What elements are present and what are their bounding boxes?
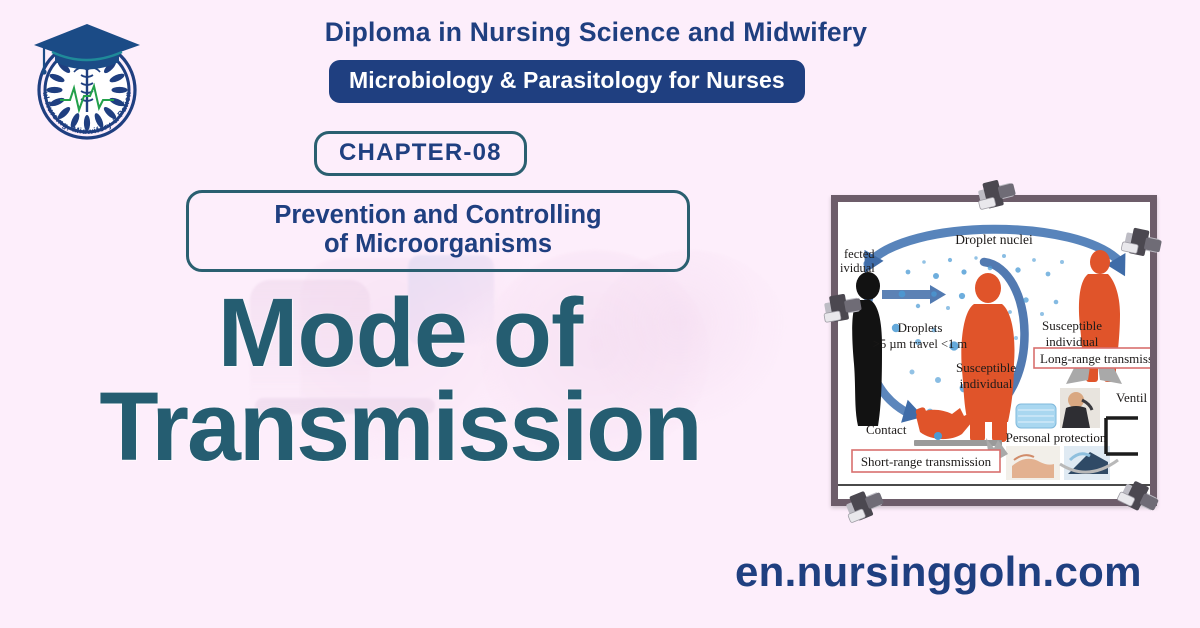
chapter-badge: CHAPTER-08 — [314, 131, 527, 176]
label-droplets: Droplets — [898, 320, 943, 335]
topic-box: Prevention and Controlling of Microorgan… — [186, 190, 690, 272]
label-infected-line2: ividual — [840, 261, 875, 275]
label-long-range: Long-range transmiss — [1040, 351, 1150, 366]
label-ventilation: Ventil — [1116, 390, 1147, 405]
page-title-line-2: Transmission — [0, 380, 800, 474]
programme-title: Diploma in Nursing Science and Midwifery — [246, 17, 946, 48]
long-range-box: Long-range transmiss — [1034, 348, 1150, 368]
gurukul-nursing-logo[interactable]: Gurukul Nursing, Midwifery & Patient Car… — [22, 12, 152, 152]
label-susceptible-right-2: individual — [1046, 334, 1099, 349]
label-short-range: Short-range transmission — [861, 454, 992, 469]
label-susceptible-right-1: Susceptible — [1042, 318, 1102, 333]
transmission-diagram: Droplet nuclei fected ividual Droplets >… — [838, 202, 1150, 499]
hand-washing-icon — [1006, 446, 1060, 480]
label-contact: Contact — [866, 422, 907, 437]
banner-root: Gurukul Nursing, Midwifery & Patient Car… — [0, 0, 1200, 628]
transmission-image-panel: Droplet nuclei fected ividual Droplets >… — [831, 195, 1157, 506]
topic-line-1: Prevention and Controlling — [274, 201, 601, 229]
page-title: Mode of Transmission — [0, 286, 800, 474]
page-title-line-1: Mode of — [218, 278, 583, 387]
label-personal-protection: Personal protection — [1006, 430, 1107, 445]
face-mask-icon — [1016, 404, 1056, 428]
subject-badge: Microbiology & Parasitology for Nurses — [329, 60, 805, 103]
label-infected-line1: fected — [844, 247, 875, 261]
coughing-person-icon — [1060, 388, 1100, 428]
label-droplets-detail: >5 µm travel <1 m — [873, 337, 967, 351]
website-url[interactable]: en.nursinggoln.com — [735, 548, 1142, 596]
surface-clean-icon — [1064, 446, 1110, 480]
droplet-on-hand — [934, 432, 942, 440]
label-susceptible-center-2: individual — [960, 376, 1013, 391]
label-droplet-nuclei: Droplet nuclei — [955, 232, 1033, 247]
label-susceptible-center-1: Susceptible — [956, 360, 1016, 375]
short-range-box: Short-range transmission — [852, 450, 1000, 472]
topic-line-2: of Microorganisms — [324, 230, 552, 258]
